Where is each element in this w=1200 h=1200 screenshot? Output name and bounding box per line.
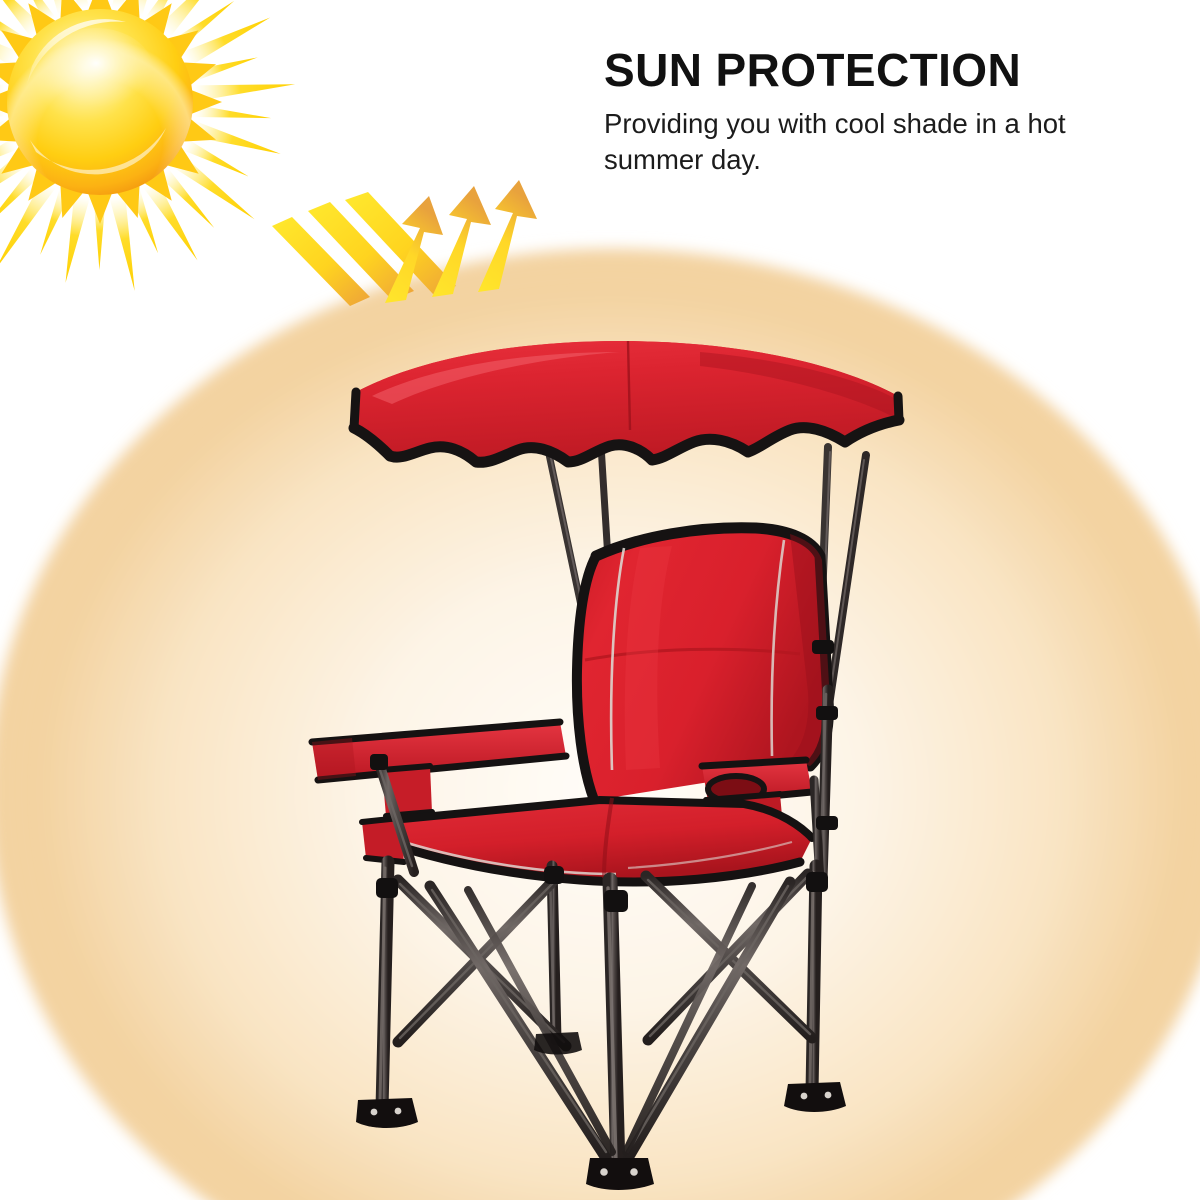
feet [356,1032,846,1190]
joint-collar-right [806,872,828,892]
joint-collar-arm-left [370,754,388,770]
joint-collar-left [376,878,398,898]
joint-bracket-right-2 [816,706,838,720]
promo-image-canvas: SUN PROTECTION Providing you with cool s… [0,0,1200,1200]
canopy-right-trim [898,396,899,420]
brace-front-left-v2 [468,890,612,1152]
headline-block: SUN PROTECTION Providing you with cool s… [604,46,1164,177]
canopy-camping-chair [0,0,1200,1200]
armrest-left [312,722,566,816]
brace-front-right-v2 [626,886,752,1152]
joint-collar-center [604,890,628,912]
joint-collar-back [544,866,564,884]
page-subtitle: Providing you with cool shade in a hot s… [604,106,1109,178]
foot-back-center [534,1032,582,1055]
joint-bracket-right-1 [812,640,834,654]
page-title: SUN PROTECTION [604,46,1164,95]
foot-front-right [784,1082,846,1112]
foot-center-front [586,1158,654,1190]
foot-front-left [356,1098,418,1128]
canopy-left-trim [354,392,356,428]
canopy-shade [354,341,899,462]
joint-bracket-right-3 [816,816,838,830]
armrest-left-tip-shadow [312,738,356,780]
